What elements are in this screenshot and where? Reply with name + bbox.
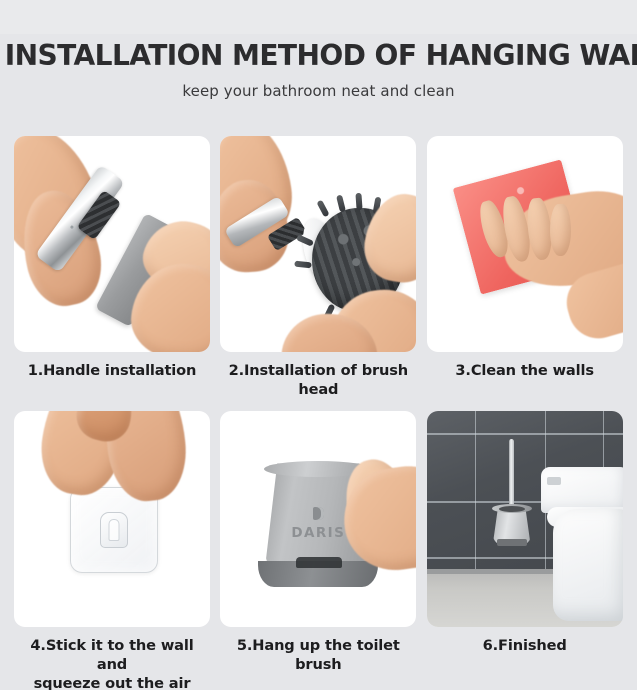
step-card-3: 3.Clean the walls bbox=[427, 136, 623, 411]
page-subtitle: keep your bathroom neat and clean bbox=[0, 84, 637, 99]
steps-grid: 1.Handle installation bbox=[14, 136, 623, 690]
step-caption-1: 1.Handle installation bbox=[14, 352, 210, 393]
page-title: INSTALLATION METHOD OF HANGING WALL bbox=[5, 42, 632, 71]
hook-mount-icon bbox=[100, 512, 128, 548]
header: INSTALLATION METHOD OF HANGING WALL keep… bbox=[0, 0, 637, 99]
toilet-bowl bbox=[553, 509, 623, 621]
flush-button bbox=[547, 477, 561, 485]
step-image-6 bbox=[427, 411, 623, 627]
bristle bbox=[336, 195, 346, 213]
brush-handle bbox=[509, 439, 514, 513]
step-image-2 bbox=[220, 136, 416, 352]
scene-hang-up-toilet-brush: DARIS bbox=[220, 411, 416, 627]
step-caption-2: 2.Installation of brush head bbox=[220, 352, 416, 411]
step-image-3 bbox=[427, 136, 623, 352]
step-card-5: DARIS 5.Hang up the toilet brush bbox=[220, 411, 416, 690]
step-card-2: 2.Installation of brush head bbox=[220, 136, 416, 411]
step-image-4 bbox=[14, 411, 210, 627]
tile-grout-line bbox=[427, 433, 623, 435]
step-caption-6: 6.Finished bbox=[427, 627, 623, 668]
bristle bbox=[295, 261, 313, 269]
step-card-6: 6.Finished bbox=[427, 411, 623, 690]
bristle bbox=[356, 193, 363, 210]
tile-grout-line bbox=[475, 411, 477, 569]
scene-brush-head-installation bbox=[220, 136, 416, 352]
little-finger bbox=[550, 204, 571, 256]
scene-finished-bathroom bbox=[427, 411, 623, 627]
holder-foot bbox=[497, 539, 527, 546]
step-card-1: 1.Handle installation bbox=[14, 136, 210, 411]
step-image-1 bbox=[14, 136, 210, 352]
step-caption-3: 3.Clean the walls bbox=[427, 352, 623, 393]
scene-handle-installation bbox=[14, 136, 210, 352]
scene-stick-to-wall bbox=[14, 411, 210, 627]
step-caption-4: 4.Stick it to the wall and squeeze out t… bbox=[14, 627, 210, 690]
step-caption-5: 5.Hang up the toilet brush bbox=[220, 627, 416, 686]
step-card-4: 4.Stick it to the wall and squeeze out t… bbox=[14, 411, 210, 690]
bristle bbox=[317, 200, 330, 218]
drain-slot bbox=[296, 557, 342, 568]
infographic-page: INSTALLATION METHOD OF HANGING WALL keep… bbox=[0, 0, 637, 690]
scene-clean-the-walls bbox=[427, 136, 623, 352]
step-image-5: DARIS bbox=[220, 411, 416, 627]
